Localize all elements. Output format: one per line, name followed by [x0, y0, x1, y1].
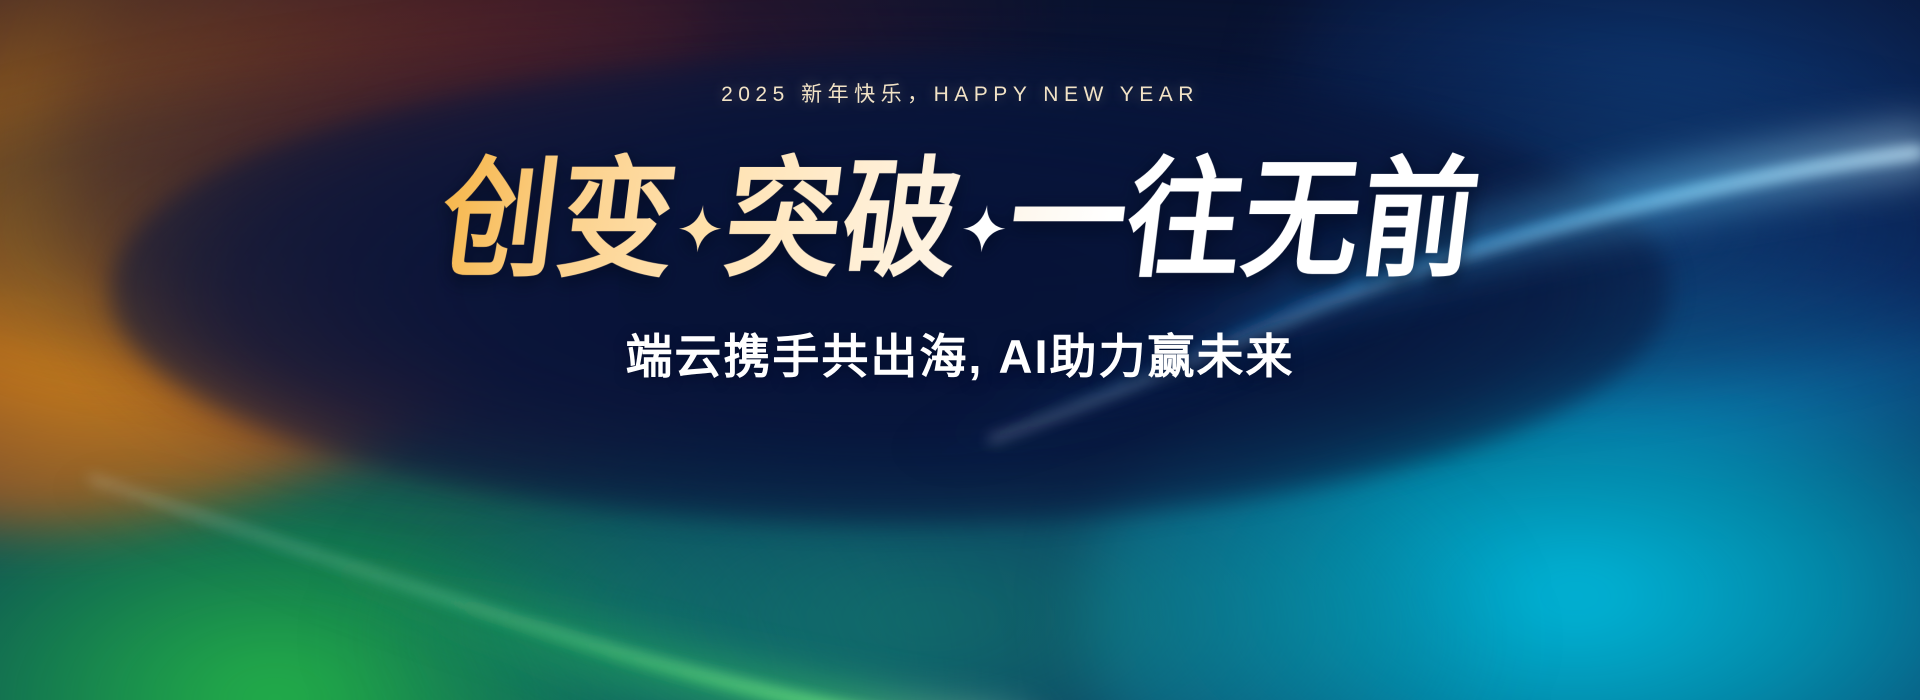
banner-content: 2025 新年快乐，HAPPY NEW YEAR 创变 突破 一往无前 端云携手…	[0, 0, 1920, 700]
headline-segment-1: 创变	[434, 153, 685, 291]
headline-segment-3: 一往无前	[1002, 153, 1487, 291]
headline-segment-2: 突破	[718, 153, 969, 291]
new-year-banner: 2025 新年快乐，HAPPY NEW YEAR 创变 突破 一往无前 端云携手…	[0, 0, 1920, 700]
banner-tagline: 2025 新年快乐，HAPPY NEW YEAR	[721, 78, 1199, 108]
banner-headline: 创变 突破 一往无前	[442, 160, 1478, 284]
headline-text: 创变 突破 一往无前	[433, 153, 1486, 292]
banner-subtitle: 端云携手共出海, AI助力赢未来	[625, 318, 1294, 387]
